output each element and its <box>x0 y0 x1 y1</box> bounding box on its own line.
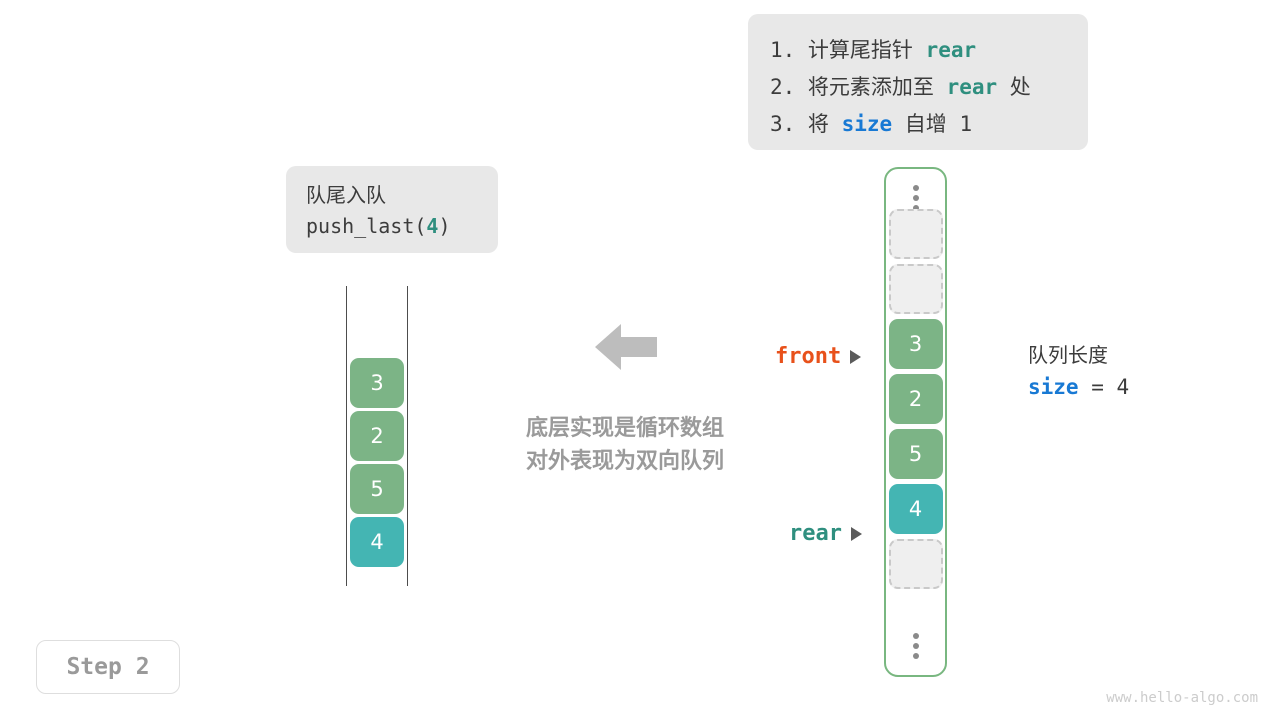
array-cell: 5 <box>889 429 943 479</box>
rear-pointer-label: rear <box>789 521 862 546</box>
dot <box>913 653 919 659</box>
size-equals-sign: = <box>1079 375 1117 399</box>
footer-url: www.hello-algo.com <box>1106 690 1258 706</box>
step-line-2: 2. 将元素添加至 rear 处 <box>770 69 1066 106</box>
deque-cell: 2 <box>350 411 404 461</box>
front-pointer-arrow-icon <box>850 350 861 364</box>
dot <box>913 643 919 649</box>
operation-call-prefix: push_last( <box>306 214 426 238</box>
dot <box>913 633 919 639</box>
size-annotation-expression: size = 4 <box>1028 370 1228 404</box>
front-pointer-text: front <box>775 344 841 369</box>
deque-cell: 5 <box>350 464 404 514</box>
operation-panel: 队尾入队 push_last(4) <box>286 166 498 253</box>
steps-instruction-panel: 1. 计算尾指针 rear 2. 将元素添加至 rear 处 3. 将 size… <box>748 14 1088 150</box>
step-line-2-prefix: 2. 将元素添加至 <box>770 75 947 99</box>
step-line-3-suffix: 自增 1 <box>892 112 972 136</box>
step-line-2-suffix: 处 <box>997 75 1031 99</box>
array-empty-cell <box>889 539 943 589</box>
size-value: 4 <box>1117 375 1130 399</box>
operation-call-argument: 4 <box>426 214 438 238</box>
array-cell: 3 <box>889 319 943 369</box>
size-annotation-caption: 队列长度 <box>1028 340 1228 370</box>
circular-array-cell-list: 3254 <box>886 209 945 594</box>
deque-visualization: 3254 <box>345 286 409 586</box>
dot <box>913 185 919 191</box>
step-line-1: 1. 计算尾指针 rear <box>770 32 1066 69</box>
deque-rail-left <box>346 286 347 586</box>
array-empty-cell <box>889 264 943 314</box>
implementation-note-line-1: 底层实现是循环数组 <box>500 412 750 445</box>
step-line-3-keyword: size <box>842 112 893 136</box>
implementation-note-line-2: 对外表现为双向队列 <box>500 445 750 478</box>
operation-call: push_last(4) <box>306 210 478 242</box>
rear-pointer-text: rear <box>789 521 842 546</box>
rear-pointer-arrow-icon <box>851 527 862 541</box>
step-badge-label: Step 2 <box>66 654 149 680</box>
operation-call-suffix: ) <box>438 214 450 238</box>
step-line-1-prefix: 1. 计算尾指针 <box>770 38 926 62</box>
ellipsis-bottom-icon <box>886 631 945 661</box>
front-pointer-label: front <box>775 344 861 369</box>
array-cell: 4 <box>889 484 943 534</box>
step-line-3-prefix: 3. 将 <box>770 112 842 136</box>
size-variable-name: size <box>1028 375 1079 399</box>
deque-cell: 3 <box>350 358 404 408</box>
deque-rail-right <box>407 286 408 586</box>
circular-array-visualization: 3254 <box>884 167 947 677</box>
left-arrow-icon <box>595 322 657 372</box>
step-badge: Step 2 <box>36 640 180 694</box>
operation-title: 队尾入队 <box>306 180 478 210</box>
step-line-2-keyword: rear <box>947 75 998 99</box>
array-cell: 2 <box>889 374 943 424</box>
implementation-note: 底层实现是循环数组 对外表现为双向队列 <box>500 412 750 478</box>
deque-cell: 4 <box>350 517 404 567</box>
size-annotation: 队列长度 size = 4 <box>1028 340 1228 404</box>
step-line-3: 3. 将 size 自增 1 <box>770 106 1066 143</box>
deque-cell-list: 3254 <box>348 358 406 570</box>
array-empty-cell <box>889 209 943 259</box>
dot <box>913 195 919 201</box>
step-line-1-keyword: rear <box>926 38 977 62</box>
